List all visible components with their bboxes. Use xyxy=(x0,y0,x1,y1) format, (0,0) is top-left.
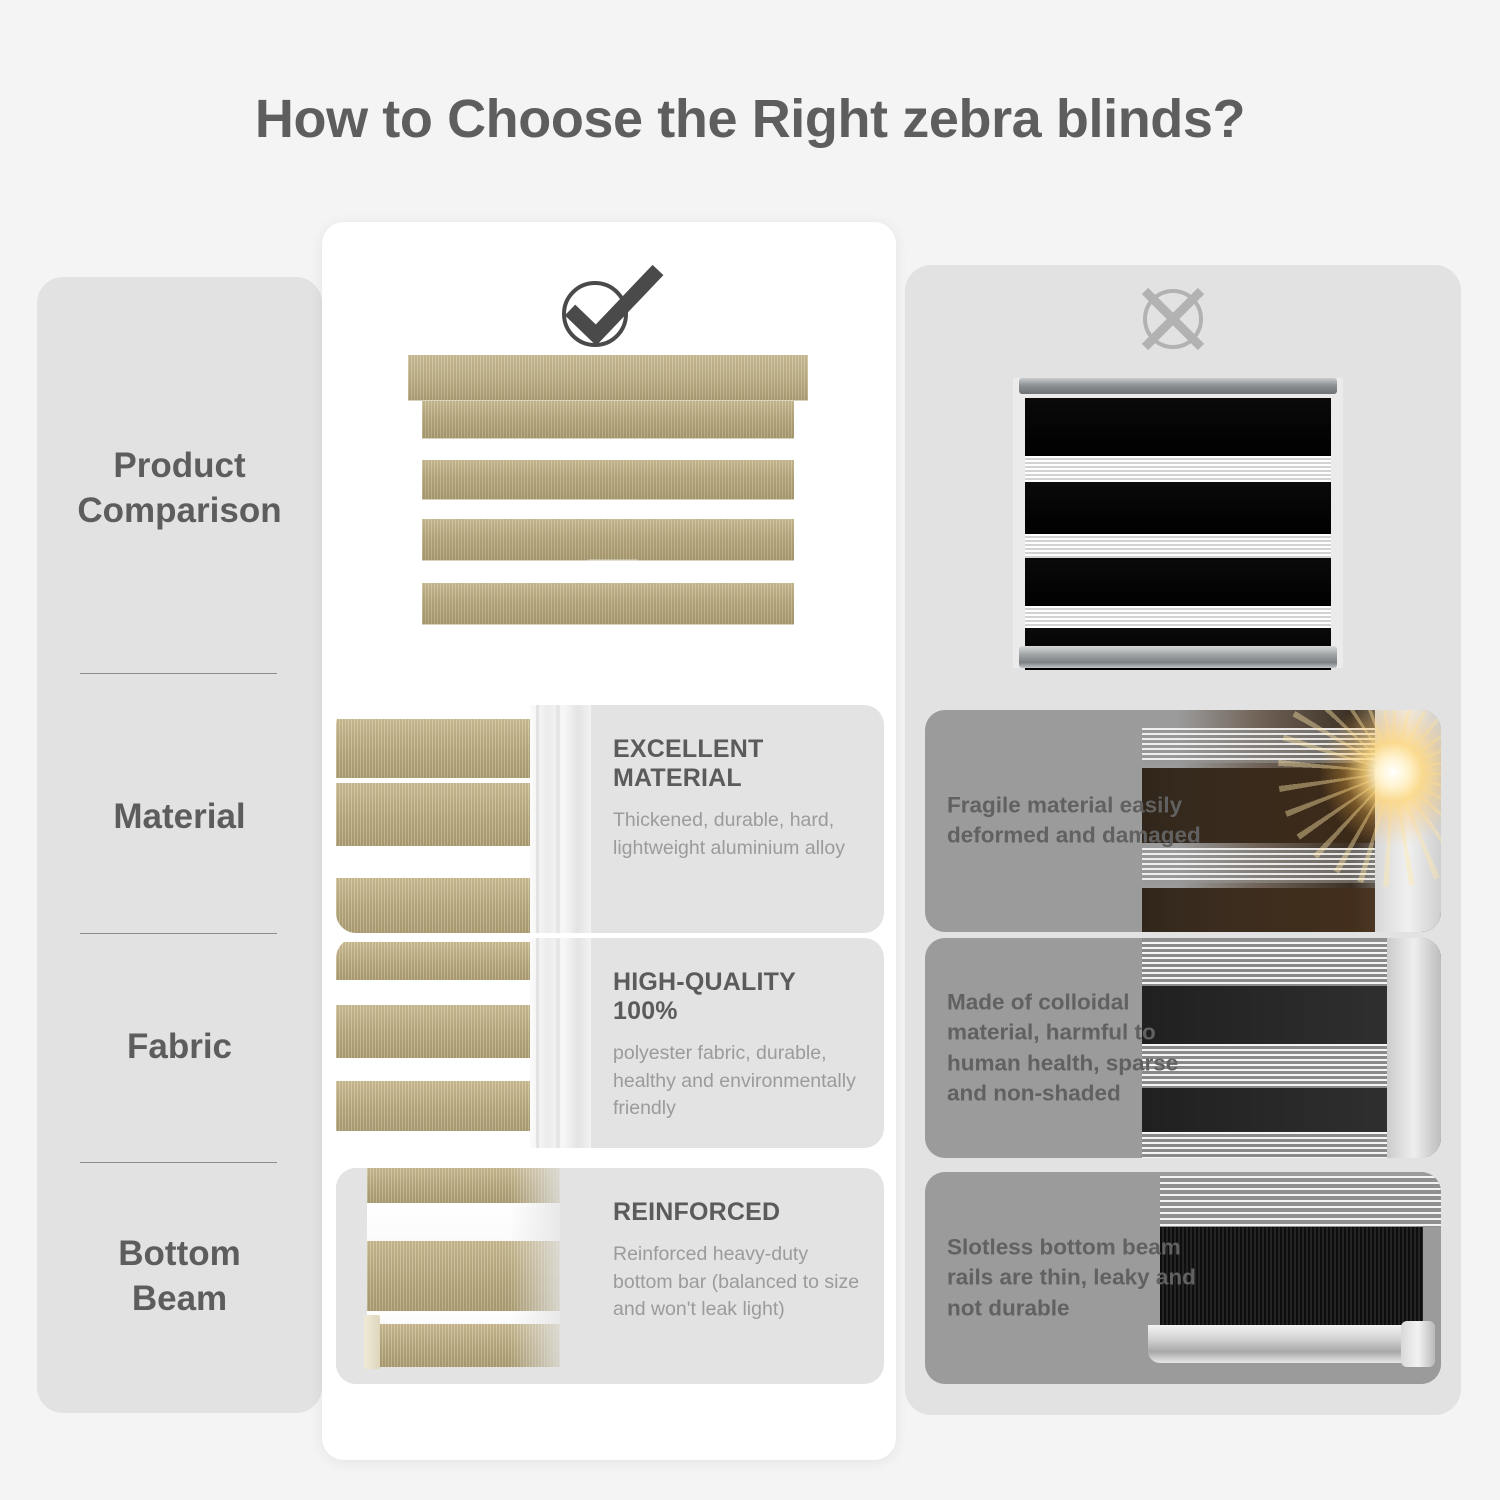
page-title: How to Choose the Right zebra blinds? xyxy=(0,88,1500,150)
good-card-bottom-beam: REINFORCED Reinforced heavy-duty bottom … xyxy=(336,1168,884,1384)
bad-card-fabric: Made of colloidal material, harmful to h… xyxy=(925,938,1441,1158)
blind-sheer-band xyxy=(1025,456,1331,482)
sidebar-label-line: Comparison xyxy=(77,491,281,530)
sidebar-label-line: Beam xyxy=(132,1279,227,1318)
tan-zebra-blind-product-image xyxy=(408,355,808,695)
blind-slat xyxy=(422,401,794,439)
card-body: Reinforced heavy-duty bottom bar (balanc… xyxy=(613,1241,860,1324)
tan-blind-closeup-image xyxy=(336,705,591,933)
blind-slat xyxy=(422,460,794,500)
sidebar-divider xyxy=(80,1162,277,1163)
card-title: HIGH-QUALITY 100% xyxy=(613,968,860,1026)
sidebar-item-product-comparison: Product Comparison xyxy=(37,444,322,534)
card-body: polyester fabric, durable, healthy and e… xyxy=(613,1040,860,1123)
blind-sheer-band xyxy=(1025,606,1331,628)
card-title: EXCELLENT MATERIAL xyxy=(613,735,860,793)
blind-slat xyxy=(422,583,794,625)
sidebar-divider xyxy=(80,933,277,934)
tan-blind-bottom-bar-image xyxy=(336,1168,591,1384)
tan-blind-fabric-image xyxy=(336,938,591,1148)
sidebar-item-bottom-beam: Bottom Beam xyxy=(37,1232,322,1322)
sidebar-item-fabric: Fabric xyxy=(37,1025,322,1070)
sidebar-divider xyxy=(80,673,277,674)
blind-opaque-band xyxy=(1025,398,1331,456)
blind-headrail xyxy=(408,355,808,401)
bad-card-bottom-beam: Slotless bottom beam rails are thin, lea… xyxy=(925,1172,1441,1384)
good-card-material: EXCELLENT MATERIAL Thickened, durable, h… xyxy=(336,705,884,933)
blind-top-rail xyxy=(1019,378,1337,394)
blind-bottom-rail xyxy=(1019,646,1337,668)
good-card-fabric: HIGH-QUALITY 100% polyester fabric, dura… xyxy=(336,938,884,1148)
blind-sheer-band xyxy=(1025,534,1331,558)
black-zebra-blind-product-image xyxy=(1013,378,1343,668)
blind-slat xyxy=(422,519,794,561)
card-text: Made of colloidal material, harmful to h… xyxy=(947,987,1207,1109)
blind-opaque-band xyxy=(1025,482,1331,534)
sidebar-label-line: Bottom xyxy=(118,1234,240,1273)
sidebar-label-line: Product xyxy=(113,446,245,485)
check-circle-icon xyxy=(550,262,670,352)
cross-circle-icon xyxy=(1128,283,1218,355)
blind-opaque-band xyxy=(1025,558,1331,606)
sidebar-item-material: Material xyxy=(37,795,322,840)
card-text: Slotless bottom beam rails are thin, lea… xyxy=(947,1232,1207,1323)
card-text: Fragile material easily deformed and dam… xyxy=(947,791,1207,852)
card-title: REINFORCED xyxy=(613,1198,860,1227)
bad-card-material: Fragile material easily deformed and dam… xyxy=(925,710,1441,932)
card-body: Thickened, durable, hard, lightweight al… xyxy=(613,807,860,862)
